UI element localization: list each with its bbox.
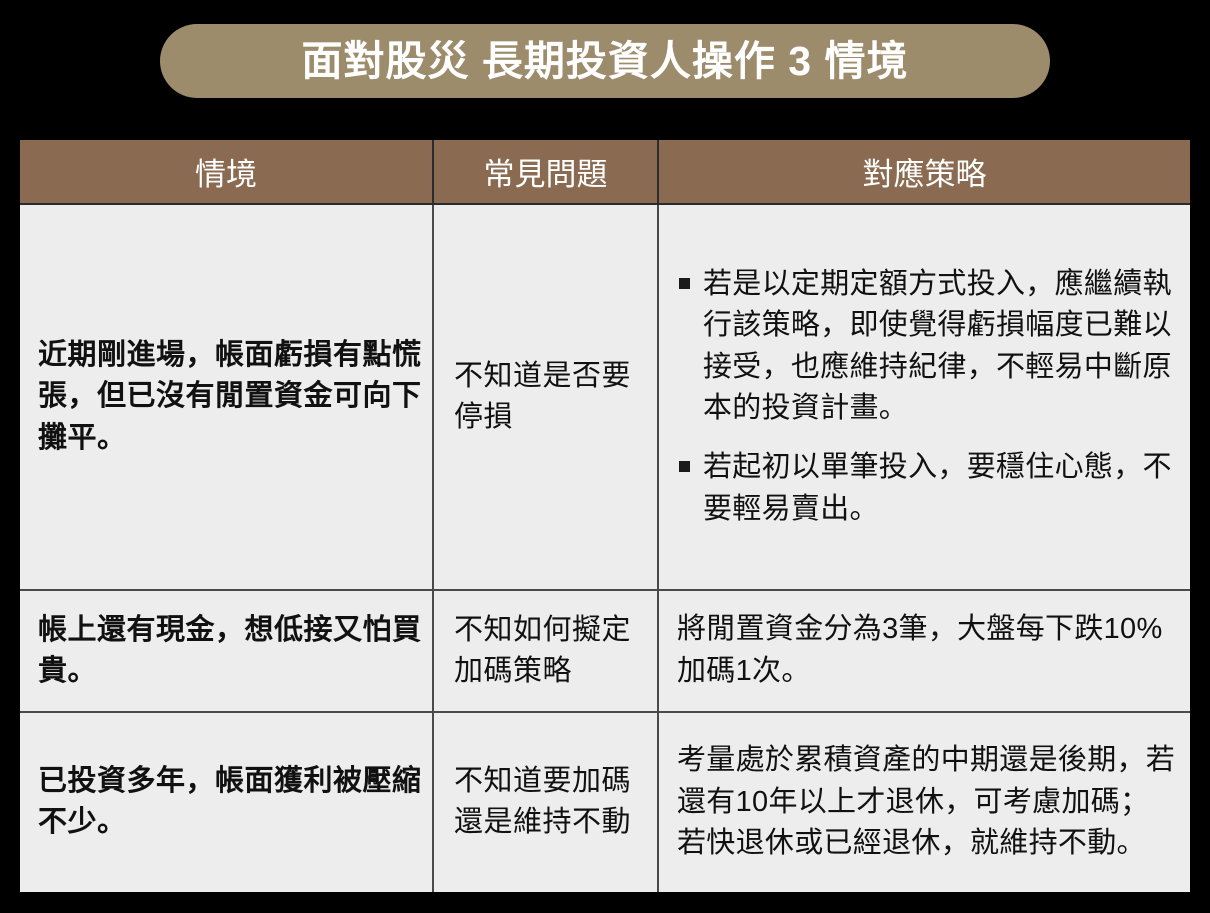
- table-body: 近期剛進場，帳面虧損有點慌張，但已沒有閒置資金可向下攤平。 不知道是否要停損 若…: [20, 204, 1190, 892]
- cell-strategy: 考量處於累積資產的中期還是後期，若還有10年以上才退休，可考慮加碼；若快退休或已…: [658, 712, 1190, 892]
- strategy-bullet-list: 若是以定期定額方式投入，應繼續執行該策略，即使覺得虧損幅度已難以接受，也應維持紀…: [677, 264, 1178, 531]
- strategy-table-container: 情境 常見問題 對應策略 近期剛進場，帳面虧損有點慌張，但已沒有閒置資金可向下攤…: [20, 140, 1190, 892]
- column-header-strategy: 對應策略: [658, 140, 1190, 204]
- bullet-text: 若起初以單筆投入，要穩住心態，不要輕易賣出。: [703, 451, 1172, 524]
- bullet-text: 若是以定期定額方式投入，應繼續執行該策略，即使覺得虧損幅度已難以接受，也應維持紀…: [703, 268, 1172, 424]
- page-title: 面對股災 長期投資人操作 3 情境: [302, 41, 909, 82]
- column-header-scenario: 情境: [20, 140, 433, 204]
- square-bullet-icon: [679, 461, 690, 472]
- cell-problem: 不知道要加碼還是維持不動: [433, 712, 658, 892]
- table-header: 情境 常見問題 對應策略: [20, 140, 1190, 204]
- cell-problem: 不知道是否要停損: [433, 204, 658, 590]
- list-item: 若是以定期定額方式投入，應繼續執行該策略，即使覺得虧損幅度已難以接受，也應維持紀…: [677, 264, 1178, 430]
- column-header-problem: 常見問題: [433, 140, 658, 204]
- title-banner: 面對股災 長期投資人操作 3 情境: [160, 24, 1050, 98]
- strategy-table: 情境 常見問題 對應策略 近期剛進場，帳面虧損有點慌張，但已沒有閒置資金可向下攤…: [20, 140, 1190, 892]
- table-row: 已投資多年，帳面獲利被壓縮不少。 不知道要加碼還是維持不動 考量處於累積資產的中…: [20, 712, 1190, 892]
- cell-scenario: 帳上還有現金，想低接又怕買貴。: [20, 590, 433, 712]
- cell-strategy: 將閒置資金分為3筆，大盤每下跌10%加碼1次。: [658, 590, 1190, 712]
- table-row: 帳上還有現金，想低接又怕買貴。 不知如何擬定加碼策略 將閒置資金分為3筆，大盤每…: [20, 590, 1190, 712]
- strategy-text: 將閒置資金分為3筆，大盤每下跌10%加碼1次。: [677, 609, 1178, 692]
- square-bullet-icon: [679, 278, 690, 289]
- cell-scenario: 已投資多年，帳面獲利被壓縮不少。: [20, 712, 433, 892]
- list-item: 若起初以單筆投入，要穩住心態，不要輕易賣出。: [677, 447, 1178, 530]
- cell-problem: 不知如何擬定加碼策略: [433, 590, 658, 712]
- strategy-text: 考量處於累積資產的中期還是後期，若還有10年以上才退休，可考慮加碼；若快退休或已…: [677, 740, 1178, 864]
- cell-strategy: 若是以定期定額方式投入，應繼續執行該策略，即使覺得虧損幅度已難以接受，也應維持紀…: [658, 204, 1190, 590]
- table-row: 近期剛進場，帳面虧損有點慌張，但已沒有閒置資金可向下攤平。 不知道是否要停損 若…: [20, 204, 1190, 590]
- table-header-row: 情境 常見問題 對應策略: [20, 140, 1190, 204]
- infographic-page: 面對股災 長期投資人操作 3 情境 情境 常見問題 對應策略 近期剛進場，帳面虧…: [0, 0, 1210, 913]
- cell-scenario: 近期剛進場，帳面虧損有點慌張，但已沒有閒置資金可向下攤平。: [20, 204, 433, 590]
